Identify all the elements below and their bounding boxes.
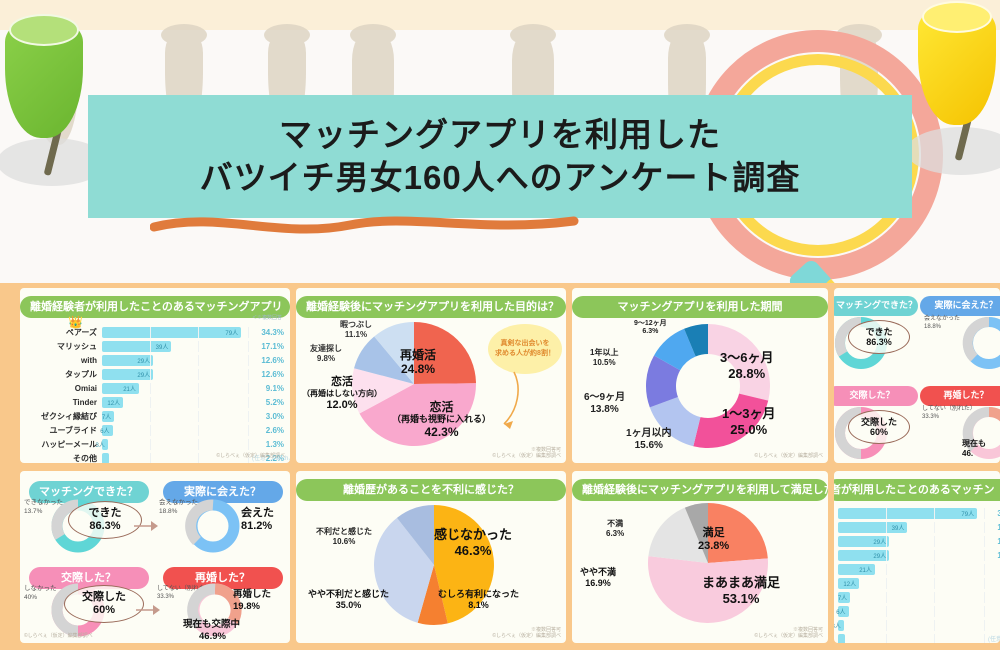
panel-apps-title: 離婚経験者が利用したことのあるマッチングアプリ xyxy=(20,296,290,318)
funnel-cell-met[interactable]: 実際に会えた？ 会えなかった18.8% 会えた81.2% xyxy=(157,473,288,557)
bar-gridline xyxy=(934,620,935,631)
funnel-match-annotation: できた 86.3% xyxy=(68,501,142,539)
panel-disadvantage-title: 離婚歴があることを不利に感じた？ xyxy=(296,479,566,501)
title-banner: マッチングアプリを利用した バツイチ男女160人へのアンケート調査 xyxy=(88,95,912,218)
panel-apps-used-clipped[interactable]: 者が利用したことのあるマッチン ペアーズ79人34.3%マリッシュ39人17.1… xyxy=(834,471,1000,643)
duration-footnote-source: ©しらべぇ（仮定）編集部調べ xyxy=(754,453,823,459)
funnel-clip-met-title: 実際に会えた？ xyxy=(920,296,1000,316)
bar-row: その他(任意、Match、POIBOYS 他)2.2% xyxy=(834,633,1000,643)
charts-grid: 離婚経験者が利用したことのあるマッチングアプリ ＜※複数回答 👑 ペアーズ79人… xyxy=(0,283,1000,650)
bar-gridline xyxy=(248,411,249,422)
purpose-callout-text: 真剣な出会いを 求める人が約8割！ xyxy=(495,339,555,359)
bar-row: ハッピーメール3人1.3% xyxy=(26,438,284,451)
apps-bar-chart: ペアーズ79人34.3%マリッシュ39人17.1%with29人12.6%タップ… xyxy=(26,326,284,463)
bar-fill: 29人 xyxy=(102,369,153,380)
disadvantage-footnote: ※複数回答可 ©しらべぇ（仮定）編集部調べ xyxy=(492,627,561,641)
pie-label: 恋活（再婚はしない方向）12.0% xyxy=(302,376,382,412)
pie-label: 1〜3ヶ月25.0% xyxy=(722,406,775,437)
bar-gridline xyxy=(198,425,199,436)
pushpin-yellow-ring xyxy=(922,1,992,33)
pie-label: 3〜6ヶ月28.8% xyxy=(720,350,773,381)
purpose-footnote-source: ©しらべぇ（仮定）編集部調べ xyxy=(492,453,561,459)
bar-row: タップル29人12.6% xyxy=(834,549,1000,562)
bar-gridline xyxy=(886,550,887,561)
funnel-match-value: 86.3% xyxy=(89,520,120,533)
bar-percent-label: 5.2% xyxy=(248,398,284,407)
bar-track: 21人 xyxy=(838,564,984,575)
bar-category-label: ハッピーメール xyxy=(26,439,102,450)
bar-gridline xyxy=(198,341,199,352)
bar-gridline xyxy=(984,620,985,631)
bar-fill: 3人 xyxy=(102,439,108,450)
panel-disadvantage[interactable]: 離婚歴があることを不利に感じた？ 感じなかった46.3%むしろ有利になった8.1… xyxy=(296,471,566,643)
bar-percent-label: 2.6% xyxy=(984,607,1000,616)
funnel-met-donut xyxy=(181,497,245,555)
duration-footnote: ©しらべぇ（仮定）編集部調べ xyxy=(754,453,823,460)
bar-fill: 6人 xyxy=(102,425,113,436)
bar-count-label: 21人 xyxy=(123,384,139,393)
bar-fill: 29人 xyxy=(838,536,889,547)
pie-label: 満足23.8% xyxy=(698,527,729,553)
bar-fill: 79人 xyxy=(102,327,241,338)
bar-percent-label: 1.3% xyxy=(248,440,284,449)
pie-label: やや不満16.9% xyxy=(580,567,616,589)
panel-duration-title: マッチングアプリを利用した期間 xyxy=(572,296,828,318)
funnel-clip-match: マッチングできた？ できた 86.3% xyxy=(834,288,920,376)
panel-funnel[interactable]: マッチングできた？ できなかった13.7% できた 86.3% 実際に会えた？ … xyxy=(20,471,290,643)
bar-gridline xyxy=(198,453,199,463)
bar-row: ハッピーメール3人1.3% xyxy=(834,619,1000,632)
bar-gridline xyxy=(248,439,249,450)
bar-gridline xyxy=(198,383,199,394)
bar-gridline xyxy=(984,536,985,547)
bar-fill xyxy=(838,634,845,643)
bar-count-label: 12人 xyxy=(107,398,123,407)
bar-gridline xyxy=(934,536,935,547)
pie-label: 再婚活24.8% xyxy=(400,348,436,377)
purpose-callout-arrow xyxy=(492,370,532,432)
bar-percent-label: 17.1% xyxy=(984,523,1000,532)
bar-gridline xyxy=(934,508,935,519)
bar-row: ペアーズ79人34.3% xyxy=(834,507,1000,520)
funnel-cell-remarried[interactable]: 再婚した？ してない（別れた）33.3% 再婚した19.8% 現在も交際中46.… xyxy=(157,559,288,643)
bar-row: ユーブライド6人2.6% xyxy=(834,605,1000,618)
bar-percent-label: 9.1% xyxy=(248,384,284,393)
bar-row: with29人12.6% xyxy=(26,354,284,367)
bar-count-label: 21人 xyxy=(859,565,875,574)
bar-gridline xyxy=(150,355,151,366)
bar-gridline xyxy=(248,425,249,436)
funnel-clip-dated: 交際した？ 交際した 60% xyxy=(834,378,920,463)
apps-multi-answer-note: ＜※複数回答 xyxy=(252,314,282,321)
bar-count-label: 12人 xyxy=(843,579,859,588)
bar-track: 79人 xyxy=(102,327,248,338)
panel-satisfaction[interactable]: 離婚経験後にマッチングアプリを利用して満足した？ 満足23.8%まあまあ満足53… xyxy=(572,471,828,643)
bar-gridline xyxy=(934,550,935,561)
bar-category-label: その他 xyxy=(26,453,102,463)
funnel-clip-match-value: 86.3% xyxy=(866,337,892,347)
bar-percent-label: 12.6% xyxy=(248,370,284,379)
bar-gridline xyxy=(984,592,985,603)
funnel-remarried-label: 再婚した19.8% xyxy=(233,589,271,613)
bar-track: 3人 xyxy=(838,620,984,631)
bar-row: Tinder12人5.2% xyxy=(26,396,284,409)
funnel-remarried-label-2: 現在も交際中46.9% xyxy=(183,619,240,643)
bar-gridline xyxy=(198,327,199,338)
funnel-clip-remarried-title: 再婚した？ xyxy=(920,386,1000,406)
panel-purpose[interactable]: 離婚経験後にマッチングアプリを利用した目的は？ 再婚活24.8%恋活（再婚も視野… xyxy=(296,288,566,463)
satisfaction-pie-chart xyxy=(640,499,776,627)
bar-percent-label: 34.3% xyxy=(248,328,284,337)
funnel-clip-remarried-value: 現在も46. xyxy=(962,438,986,458)
bar-percent-label: 2.6% xyxy=(248,426,284,435)
bar-track: 12人 xyxy=(838,578,984,589)
pushpin-green-ring xyxy=(9,14,79,46)
bar-gridline xyxy=(248,341,249,352)
bar-gridline xyxy=(198,439,199,450)
funnel-footnote: ©しらべぇ（仮定）編集部調べ xyxy=(24,633,93,640)
bar-gridline xyxy=(886,508,887,519)
bar-gridline xyxy=(198,369,199,380)
bar-gridline xyxy=(886,592,887,603)
bar-fill: 12人 xyxy=(102,397,123,408)
page-title-line-1: マッチングアプリを利用した xyxy=(279,114,721,156)
bar-fill xyxy=(102,453,109,463)
bar-track: 6人 xyxy=(838,606,984,617)
bar-gridline xyxy=(150,369,151,380)
funnel-clip-match-label: できた xyxy=(865,327,892,337)
bar-gridline xyxy=(984,634,985,643)
pie-label: 友達探し9.8% xyxy=(310,344,342,363)
bar-gridline xyxy=(150,327,151,338)
funnel-clip-match-annotation: できた 86.3% xyxy=(848,320,910,354)
funnel-clip-met: 実際に会えた？ 会えなかった18.8% xyxy=(920,288,1000,376)
bar-gridline xyxy=(886,536,887,547)
funnel-clip-remarried: 再婚した？ してない（別れた）33.3% 現在も46. xyxy=(920,378,1000,463)
bar-gridline xyxy=(934,634,935,643)
bar-gridline xyxy=(198,397,199,408)
bar-count-label: 6人 xyxy=(100,426,112,435)
bar-track: 29人 xyxy=(102,355,248,366)
bar-gridline xyxy=(934,592,935,603)
bar-category-label: マリッシュ xyxy=(26,341,102,352)
bar-gridline xyxy=(984,606,985,617)
purpose-footnote-multi: ※複数回答可 xyxy=(531,447,561,453)
pie-label: 9〜12ヶ月6.3% xyxy=(634,320,667,337)
bar-count-label: 7人 xyxy=(838,593,850,602)
bar-track: 7人 xyxy=(838,592,984,603)
bar-row: Omiai21人9.1% xyxy=(834,563,1000,576)
bar-gridline xyxy=(934,606,935,617)
bar-gridline xyxy=(150,439,151,450)
bar-fill: 29人 xyxy=(838,550,889,561)
bar-category-label: Omiai xyxy=(26,384,102,393)
bar-fill: 3人 xyxy=(838,620,844,631)
bar-row: ゼクシィ縁結び7人3.0% xyxy=(26,410,284,423)
bar-percent-label: 12.6% xyxy=(248,356,284,365)
bar-gridline xyxy=(886,578,887,589)
bar-gridline xyxy=(934,564,935,575)
bar-percent-label: 9.1% xyxy=(984,565,1000,574)
pie-label: 感じなかった46.3% xyxy=(434,527,512,558)
bar-track: 29人 xyxy=(102,369,248,380)
apps-footnote: ©しらべぇ（仮定）編集部調べ xyxy=(216,453,285,460)
bar-gridline xyxy=(150,425,151,436)
satisfaction-footnote: ※複数回答可 ©しらべぇ（仮定）編集部調べ xyxy=(754,627,823,641)
bar-gridline xyxy=(984,578,985,589)
panel-funnel-right-clipped[interactable]: マッチングできた？ できた 86.3% 実際に会えた？ 会えなかった18.8% … xyxy=(834,288,1000,463)
panel-purpose-title: 離婚経験後にマッチングアプリを利用した目的は？ xyxy=(296,296,566,318)
bar-gridline xyxy=(886,620,887,631)
bar-gridline xyxy=(150,383,151,394)
bar-gridline xyxy=(150,397,151,408)
bar-percent-label: 3.0% xyxy=(984,593,1000,602)
funnel-clip-match-title: マッチングできた？ xyxy=(834,296,918,316)
bar-row: ユーブライド6人2.6% xyxy=(26,424,284,437)
bar-count-label: 39人 xyxy=(156,342,172,351)
bar-percent-label: 17.1% xyxy=(248,342,284,351)
pie-label: 1ヶ月以内15.6% xyxy=(626,428,672,452)
funnel-clip-dated-label: 交際した xyxy=(861,417,897,427)
bar-gridline xyxy=(248,397,249,408)
pie-label: 6〜9ヶ月13.8% xyxy=(584,392,625,416)
bar-gridline xyxy=(248,383,249,394)
bar-row: タップル29人12.6% xyxy=(26,368,284,381)
funnel-match-label: できた xyxy=(89,507,122,520)
funnel-clip-dated-annotation: 交際した 60% xyxy=(848,410,910,444)
bar-track: 3人 xyxy=(102,439,248,450)
funnel-dated-annotation: 交際した 60% xyxy=(64,585,144,623)
bar-category-label: ゼクシィ縁結び xyxy=(26,411,102,422)
bar-percent-label: 1.3% xyxy=(984,621,1000,630)
pie-label: 不満6.3% xyxy=(606,519,624,538)
bar-gridline xyxy=(198,411,199,422)
bar-fill: 21人 xyxy=(838,564,875,575)
bar-row: ペアーズ79人34.3% xyxy=(26,326,284,339)
bar-percent-label: 34.3% xyxy=(984,509,1000,518)
bar-gridline xyxy=(248,369,249,380)
funnel-clip-met-sublabel: 会えなかった18.8% xyxy=(924,316,960,332)
bar-gridline xyxy=(248,355,249,366)
title-underline-wave xyxy=(150,213,580,239)
bar-gridline xyxy=(934,522,935,533)
disadvantage-footnote-source: ©しらべぇ（仮定）編集部調べ xyxy=(492,633,561,639)
panel-apps-clipped-title: 者が利用したことのあるマッチン xyxy=(834,479,1000,501)
bar-category-label: Tinder xyxy=(26,398,102,407)
funnel-met-label: 会えた81.2% xyxy=(241,507,274,533)
bar-fill: 39人 xyxy=(838,522,907,533)
pie-label: 不利だと感じた10.6% xyxy=(316,527,372,546)
panel-satisfaction-title: 離婚経験後にマッチングアプリを利用して満足した？ xyxy=(572,479,828,501)
pie-label: 暇つぶし11.1% xyxy=(340,320,372,339)
bar-track: 29人 xyxy=(838,536,984,547)
bar-percent-label: 12.6% xyxy=(984,551,1000,560)
bar-track: 7人 xyxy=(102,411,248,422)
bar-fill: 12人 xyxy=(838,578,859,589)
page-title-line-2: バツイチ男女160人へのアンケート調査 xyxy=(200,157,801,199)
pie-label: 1年以上10.5% xyxy=(590,348,618,367)
bar-gridline xyxy=(886,606,887,617)
bar-gridline xyxy=(984,508,985,519)
bar-row: ゼクシィ縁結び7人3.0% xyxy=(834,591,1000,604)
bar-gridline xyxy=(886,564,887,575)
bar-gridline xyxy=(248,327,249,338)
bar-row: マリッシュ39人17.1% xyxy=(834,521,1000,534)
bar-gridline xyxy=(150,411,151,422)
bar-track: 79人 xyxy=(838,508,984,519)
funnel-footnote-source: ©しらべぇ（仮定）編集部調べ xyxy=(24,633,93,639)
apps-bar-chart-clipped: ペアーズ79人34.3%マリッシュ39人17.1%with29人12.6%タップ… xyxy=(834,507,1000,643)
header-banner-area: マッチングアプリを利用した バツイチ男女160人へのアンケート調査 xyxy=(0,0,1000,283)
disadvantage-footnote-multi: ※複数回答可 xyxy=(531,627,561,633)
pie-label: 恋活（再婚も視野に入れる）42.3% xyxy=(392,400,491,440)
bar-track: 21人 xyxy=(102,383,248,394)
bar-count-label: 3人 xyxy=(834,621,844,630)
funnel-clip-dated-title: 交際した？ xyxy=(834,386,918,406)
bar-fill: 7人 xyxy=(838,592,850,603)
bar-row: with29人12.6% xyxy=(834,535,1000,548)
bar-row: Tinder12人5.2% xyxy=(834,577,1000,590)
pie-label: むしろ有利になった8.1% xyxy=(438,589,519,611)
bar-fill: 7人 xyxy=(102,411,114,422)
bar-fill: 29人 xyxy=(102,355,153,366)
bar-track: (任意、Match、POIBOYS 他) xyxy=(838,634,984,643)
bar-gridline xyxy=(934,578,935,589)
bar-fill: 79人 xyxy=(838,508,977,519)
bar-count-label: 39人 xyxy=(892,523,908,532)
purpose-callout-bubble: 真剣な出会いを 求める人が約8割！ xyxy=(488,324,562,374)
bar-fill: 6人 xyxy=(838,606,849,617)
bar-gridline xyxy=(984,564,985,575)
funnel-dated-value: 60% xyxy=(93,604,115,617)
bar-category-label: タップル xyxy=(26,369,102,380)
bar-percent-label: 5.2% xyxy=(984,579,1000,588)
pie-label: まあまあ満足53.1% xyxy=(702,575,780,606)
bar-gridline xyxy=(198,355,199,366)
bar-category-label: ペアーズ xyxy=(26,327,102,338)
bar-category-label: with xyxy=(26,356,102,365)
bar-fill: 21人 xyxy=(102,383,139,394)
funnel-cell-dated[interactable]: 交際した？ しなかった40% 交際した 60% xyxy=(22,559,155,643)
bar-row: Omiai21人9.1% xyxy=(26,382,284,395)
funnel-dated-label: 交際した xyxy=(82,591,126,604)
funnel-clip-met-donut xyxy=(958,314,1000,372)
bar-gridline xyxy=(984,522,985,533)
funnel-clip-dated-value: 60% xyxy=(870,427,888,437)
bar-track: 39人 xyxy=(838,522,984,533)
bar-track: 6人 xyxy=(102,425,248,436)
pie-label: やや不利だと感じた35.0% xyxy=(308,589,389,611)
purpose-footnote: ※複数回答可 ©しらべぇ（仮定）編集部調べ xyxy=(492,447,561,461)
bar-count-label: 7人 xyxy=(102,412,114,421)
bar-fill: 39人 xyxy=(102,341,171,352)
bar-track: 29人 xyxy=(838,550,984,561)
bar-category-label: ユーブライド xyxy=(26,425,102,436)
panel-apps-used[interactable]: 離婚経験者が利用したことのあるマッチングアプリ ＜※複数回答 👑 ペアーズ79人… xyxy=(20,288,290,463)
panel-duration[interactable]: マッチングアプリを利用した期間 3〜6ヶ月28.8%1〜3ヶ月25.0%1ヶ月以… xyxy=(572,288,828,463)
bar-percent-label: 3.0% xyxy=(248,412,284,421)
bar-count-label: (任意、Match、POIBOYS 他) xyxy=(988,634,1000,643)
bar-gridline xyxy=(150,453,151,463)
satisfaction-footnote-source: ©しらべぇ（仮定）編集部調べ xyxy=(754,633,823,639)
bar-track: 12人 xyxy=(102,397,248,408)
bar-gridline xyxy=(886,634,887,643)
bar-gridline xyxy=(150,341,151,352)
bar-percent-label: 12.6% xyxy=(984,537,1000,546)
bar-count-label: 79人 xyxy=(961,509,977,518)
satisfaction-footnote-multi: ※複数回答可 xyxy=(793,627,823,633)
bar-count-label: 79人 xyxy=(225,328,241,337)
bar-count-label: 6人 xyxy=(836,607,848,616)
funnel-cell-match[interactable]: マッチングできた？ できなかった13.7% できた 86.3% xyxy=(22,473,155,557)
bar-gridline xyxy=(886,522,887,533)
bar-gridline xyxy=(984,550,985,561)
apps-footnote-source: ©しらべぇ（仮定）編集部調べ xyxy=(216,453,285,459)
bar-track: 39人 xyxy=(102,341,248,352)
bar-count-label: 3人 xyxy=(95,440,107,449)
bar-row: マリッシュ39人17.1% xyxy=(26,340,284,353)
